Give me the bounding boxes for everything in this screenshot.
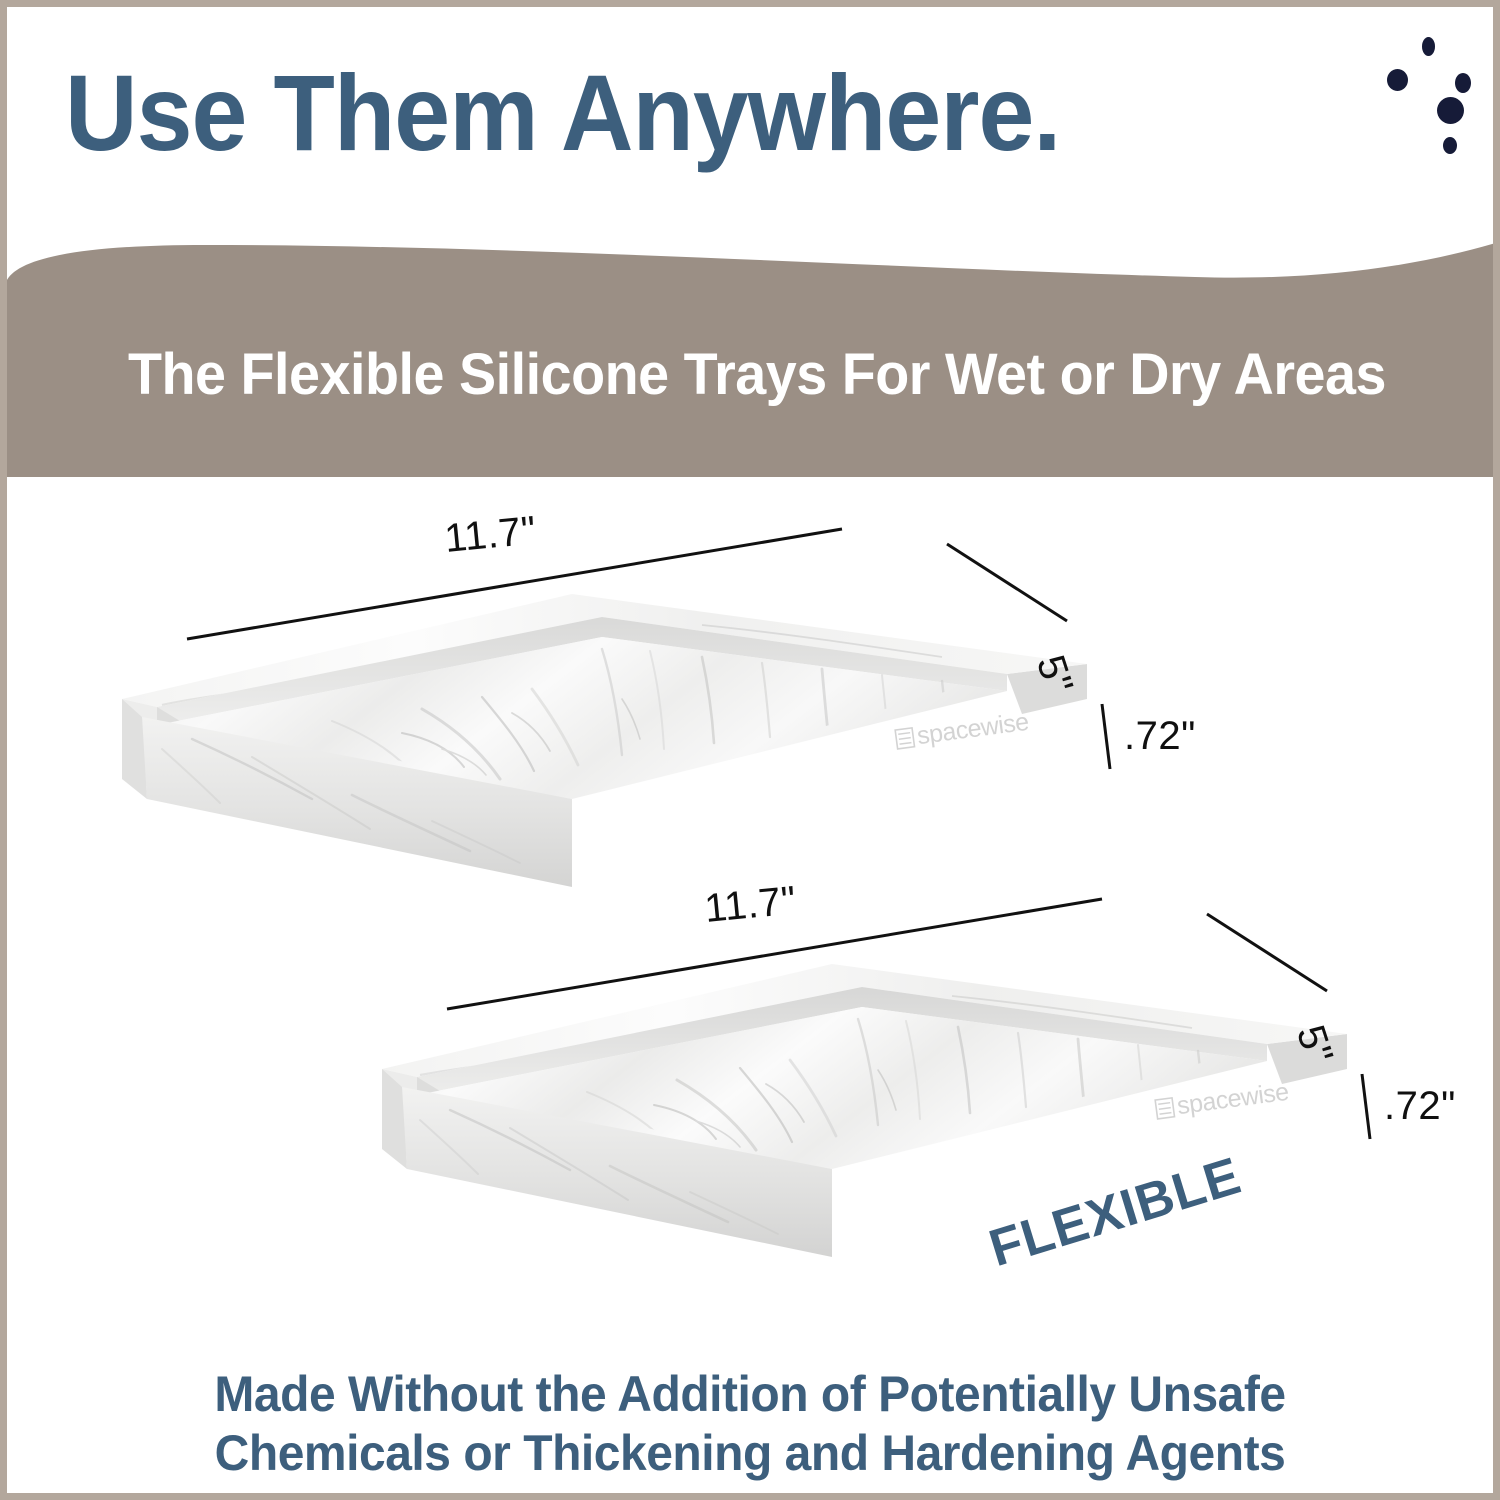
dot-large-center-icon	[1437, 97, 1464, 124]
brand-emboss-text-bottom: spacewise	[1175, 1078, 1290, 1120]
dot-small-top-icon	[1422, 37, 1435, 56]
length-label-top: 11.7"	[443, 508, 538, 562]
product-infographic: Use Them Anywhere. The Flexible Silicone…	[0, 0, 1500, 1500]
footer-caption: Made Without the Addition of Potentially…	[37, 1365, 1464, 1483]
dot-medium-left-icon	[1387, 69, 1408, 91]
dot-cluster-decoration	[1362, 29, 1492, 184]
dot-medium-right-icon	[1455, 73, 1471, 93]
spacewise-logo-icon	[1155, 1098, 1174, 1119]
page-title: Use Them Anywhere.	[65, 59, 1060, 167]
tray-bottom-illustration: spacewise	[362, 869, 1372, 1329]
footer-caption-line-1: Made Without the Addition of Potentially…	[37, 1365, 1464, 1424]
brand-emboss-bottom: spacewise	[1155, 1078, 1291, 1123]
banner-subtitle: The Flexible Silicone Trays For Wet or D…	[35, 341, 1479, 408]
product-stage: spacewise 11.7" 5" .72"	[7, 469, 1500, 1369]
height-label-bottom: .72"	[1384, 1084, 1456, 1129]
dot-small-bottom-icon	[1443, 137, 1457, 154]
height-label-top: .72"	[1124, 714, 1196, 759]
footer-caption-line-2: Chemicals or Thickening and Hardening Ag…	[37, 1424, 1464, 1483]
length-label-bottom: 11.7"	[703, 878, 798, 932]
subtitle-banner: The Flexible Silicone Trays For Wet or D…	[5, 229, 1500, 477]
